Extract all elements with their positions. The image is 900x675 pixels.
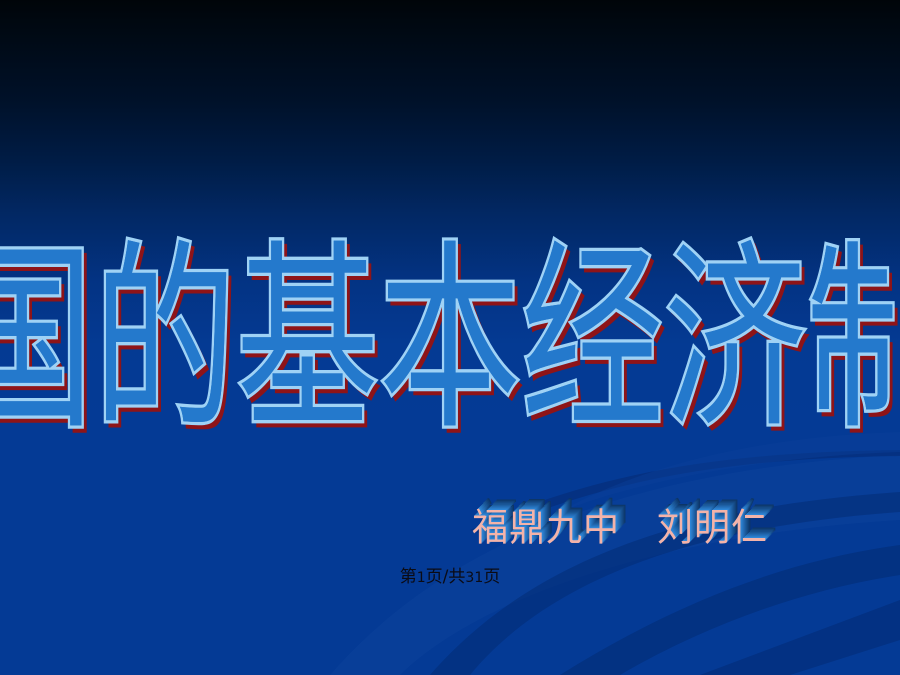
page-indicator: 第1页/共31页 — [0, 566, 900, 589]
page-indicator-current: 1 — [417, 570, 426, 586]
page-indicator-suffix: 页 — [483, 567, 500, 587]
page-indicator-middle: 页/共 — [426, 567, 466, 587]
wordart-subtitle-text: 福鼎九中 刘明仁 — [472, 508, 768, 550]
page-indicator-prefix: 第 — [400, 567, 417, 587]
title-face-layer: 我国的基本经济制度 — [0, 224, 900, 457]
slide-subtitle: 福鼎九中 刘明仁 — [450, 508, 870, 556]
slide-title: 我国的基本经济制度 我国的基本经济制度 我国的基本经济制度 — [0, 228, 900, 453]
page-indicator-total: 31 — [465, 570, 483, 586]
presentation-slide: 我国的基本经济制度 我国的基本经济制度 我国的基本经济制度 福鼎九中 刘明仁 第… — [0, 0, 900, 675]
wordart-title-text: 我国的基本经济制度 我国的基本经济制度 我国的基本经济制度 — [0, 240, 900, 441]
